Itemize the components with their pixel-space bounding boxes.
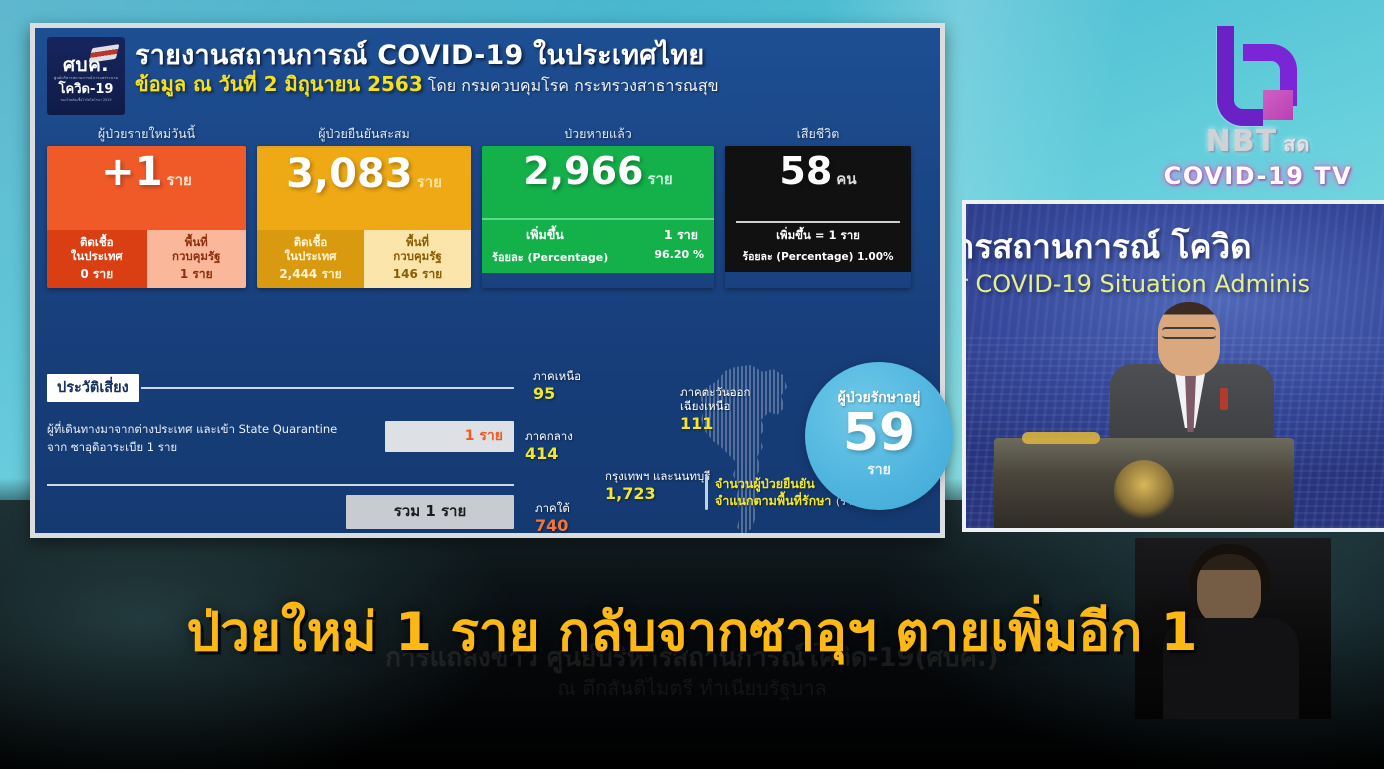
glasses-icon — [1162, 327, 1216, 339]
recovered-increase-value: 1 ราย — [664, 225, 698, 245]
deaths-percent-label: ร้อยละ (Percentage) 1.00% — [734, 248, 902, 265]
region-south: ภาคใต้ 740 — [535, 502, 570, 535]
lower-third-headline: ป่วยใหม่ 1 ราย กลับจากซาอุฯ ตายเพิ่มอีก … — [0, 590, 1384, 674]
region-central-name: ภาคกลาง — [525, 430, 573, 444]
risk-history-text-line2: จาก ซาอุดิอาระเบีย 1 ราย — [47, 439, 377, 457]
stat-card-new-cases: +1 ราย ติดเชื้อ ในประเทศ 0 ราย พื้นที่ ก… — [47, 146, 246, 288]
channel-subtitle: COVID-19 TV — [1158, 162, 1358, 190]
recovered-percent-label: ร้อยละ (Percentage) — [492, 248, 608, 266]
new-cases-quarantine-label1: พื้นที่ — [149, 235, 245, 249]
cumulative-value: 3,083 — [286, 155, 413, 193]
caption-recovered: ป่วยหายแล้ว — [482, 124, 714, 144]
card-captions: ผู้ป่วยรายใหม่วันนี้ ผู้ป่วยยืนยันสะสม ป… — [47, 124, 928, 144]
cumulative-local-label2: ในประเทศ — [259, 249, 362, 263]
sbc-logo-line1-sub: ศูนย์บริหารสถานการณ์การแพร่ระบาด — [54, 76, 118, 81]
covid-infographic-panel: ศบค. ศูนย์บริหารสถานการณ์การแพร่ระบาด โค… — [30, 23, 945, 538]
recovered-percent-value: 96.20 % — [654, 248, 704, 266]
live-badge: สด — [1283, 132, 1310, 156]
stat-cards: +1 ราย ติดเชื้อ ในประเทศ 0 ราย พื้นที่ ก… — [47, 146, 928, 288]
deaths-increase-label: เพิ่มขึ้น = 1 ราย — [734, 227, 902, 245]
caption-new-cases: ผู้ป่วยรายใหม่วันนี้ — [47, 124, 246, 144]
broadcast-stage: ศบค. ศูนย์บริหารสถานการณ์การแพร่ระบาด โค… — [0, 0, 1384, 769]
region-northeast-name-line2: เฉียงเหนือ — [680, 400, 750, 414]
stat-card-deaths: 58 คน เพิ่มขึ้น = 1 ราย ร้อยละ (Percenta… — [725, 146, 911, 288]
region-central-value: 414 — [525, 445, 573, 463]
new-cases-quarantine-value: 1 ราย — [149, 267, 245, 282]
region-northeast-name-line1: ภาคตะวันออก — [680, 386, 750, 400]
microphone-icon — [1022, 432, 1100, 444]
nbt-square-shape — [1263, 90, 1293, 120]
legend-line2: จำแนกตามพื้นที่รักษา — [715, 493, 831, 508]
podium — [994, 438, 1294, 530]
region-bangkok-name: กรุงเทพฯ และนนทบุรี — [605, 470, 710, 484]
region-south-value: 740 — [535, 517, 570, 535]
risk-history-row: ผู้ที่เดินทางมาจากต่างประเทศ และเข้า Sta… — [47, 421, 514, 457]
new-cases-local-label1: ติดเชื้อ — [49, 235, 145, 249]
region-north-value: 95 — [533, 385, 581, 403]
new-cases-value: +1 — [101, 153, 162, 191]
region-northeast-value: 111 — [680, 415, 750, 433]
sbc-logo-line2-sub: ของโรคติดเชื้อไวรัสโคโรนา 2019 — [61, 98, 112, 103]
region-central: ภาคกลาง 414 — [525, 430, 573, 463]
speaker-head — [1158, 302, 1220, 376]
cumulative-quarantine-value: 146 ราย — [366, 267, 469, 282]
infographic-source: โดย กรมควบคุมโรค กระทรวงสาธารณสุข — [428, 76, 719, 95]
new-cases-quarantine-label2: กวบคุมรัฐ — [149, 249, 245, 263]
infographic-subtitle: ข้อมูล ณ วันที่ 2 มิถุนายน 2563โดย กรมคว… — [135, 73, 719, 96]
region-bangkok: กรุงเทพฯ และนนทบุรี 1,723 — [605, 470, 710, 503]
recovered-unit: ราย — [647, 167, 672, 191]
active-cases-unit: ราย — [867, 459, 891, 481]
new-cases-local-value: 0 ราย — [49, 267, 145, 282]
new-cases-unit: ราย — [167, 168, 192, 192]
risk-history-section: ประวัติเสี่ยง ผู้ที่เดินทางมาจากต่างประเ… — [47, 374, 514, 529]
risk-history-text-line1: ผู้ที่เดินทางมาจากต่างประเทศ และเข้า Sta… — [47, 421, 377, 439]
region-north: ภาคเหนือ 95 — [533, 370, 581, 403]
region-south-name: ภาคใต้ — [535, 502, 570, 516]
sbc-logo: ศบค. ศูนย์บริหารสถานการณ์การแพร่ระบาด โค… — [47, 37, 125, 115]
recovered-value: 2,966 — [523, 153, 643, 189]
new-cases-quarantine: พื้นที่ กวบคุมรัฐ 1 ราย — [147, 230, 247, 288]
recovered-increase-row: เพิ่มขึ้น 1 ราย — [492, 223, 704, 245]
active-cases-value: 59 — [843, 409, 915, 458]
press-conference-video: ารสถานการณ์ โควิด r COVID-19 Situation A… — [962, 200, 1384, 532]
cumulative-quarantine: พื้นที่ กวบคุมรัฐ 146 ราย — [364, 230, 471, 288]
cumulative-unit: ราย — [417, 170, 442, 194]
cumulative-local: ติดเชื้อ ในประเทศ 2,444 ราย — [257, 230, 364, 288]
nbt-mark-icon — [1203, 22, 1313, 130]
new-cases-local: ติดเชื้อ ในประเทศ 0 ราย — [47, 230, 147, 288]
stat-card-recovered: 2,966 ราย เพิ่มขึ้น 1 ราย ร้อยละ (Percen… — [482, 146, 714, 288]
region-northeast: ภาคตะวันออก เฉียงเหนือ 111 — [680, 386, 750, 433]
speaker-figure — [1116, 302, 1266, 452]
legend-accent-bar — [705, 476, 708, 510]
recovered-increase-label: เพิ่มขึ้น — [526, 225, 564, 245]
infographic-header: ศบค. ศูนย์บริหารสถานการณ์การแพร่ระบาด โค… — [47, 37, 928, 115]
nbt-channel-logo: NBTสด COVID-19 TV — [1158, 22, 1358, 182]
stat-card-cumulative: 3,083 ราย ติดเชื้อ ในประเทศ 2,444 ราย พื… — [257, 146, 471, 288]
thai-flag-swoosh-icon — [89, 44, 120, 63]
backdrop-english-text: r COVID-19 Situation Adminis — [962, 270, 1384, 298]
caption-cumulative: ผู้ป่วยยืนยันสะสม — [257, 124, 471, 144]
sbc-logo-line2: โควิด-19 — [59, 83, 114, 96]
regional-breakdown: ภาคเหนือ 95 ภาคตะวันออก เฉียงเหนือ 111 ภ… — [525, 358, 945, 538]
deaths-unit: คน — [836, 167, 856, 191]
cumulative-quarantine-label2: กวบคุมรัฐ — [366, 249, 469, 263]
risk-history-total: รวม 1 ราย — [346, 495, 514, 529]
risk-history-header: ประวัติเสี่ยง — [47, 374, 514, 402]
deaths-divider — [736, 221, 900, 223]
infographic-date: ข้อมูล ณ วันที่ 2 มิถุนายน 2563 — [135, 72, 423, 96]
risk-history-count: 1 ราย — [385, 421, 514, 452]
risk-history-text: ผู้ที่เดินทางมาจากต่างประเทศ และเข้า Sta… — [47, 421, 385, 457]
region-bangkok-value: 1,723 — [605, 485, 710, 503]
backdrop-thai-text: ารสถานการณ์ โควิด — [962, 220, 1384, 273]
risk-history-rule — [141, 387, 514, 389]
risk-history-tag: ประวัติเสี่ยง — [47, 374, 139, 402]
podium-emblem-icon — [1114, 460, 1174, 522]
recovered-percent-row: ร้อยละ (Percentage) 96.20 % — [492, 248, 704, 266]
risk-history-rule-bottom — [47, 484, 514, 486]
infographic-title: รายงานสถานการณ์ COVID-19 ในประเทศไทย — [135, 40, 719, 71]
active-cases-bubble: ผู้ป่วยรักษาอยู่ 59 ราย — [805, 362, 953, 510]
deaths-value: 58 — [779, 153, 832, 189]
cumulative-local-value: 2,444 ราย — [259, 267, 362, 282]
new-cases-local-label2: ในประเทศ — [49, 249, 145, 263]
caption-deaths: เสียชีวิต — [725, 124, 911, 144]
speaker-lapel-pin — [1220, 388, 1228, 410]
region-north-name: ภาคเหนือ — [533, 370, 581, 384]
cumulative-local-label1: ติดเชื้อ — [259, 235, 362, 249]
cumulative-quarantine-label1: พื้นที่ — [366, 235, 469, 249]
